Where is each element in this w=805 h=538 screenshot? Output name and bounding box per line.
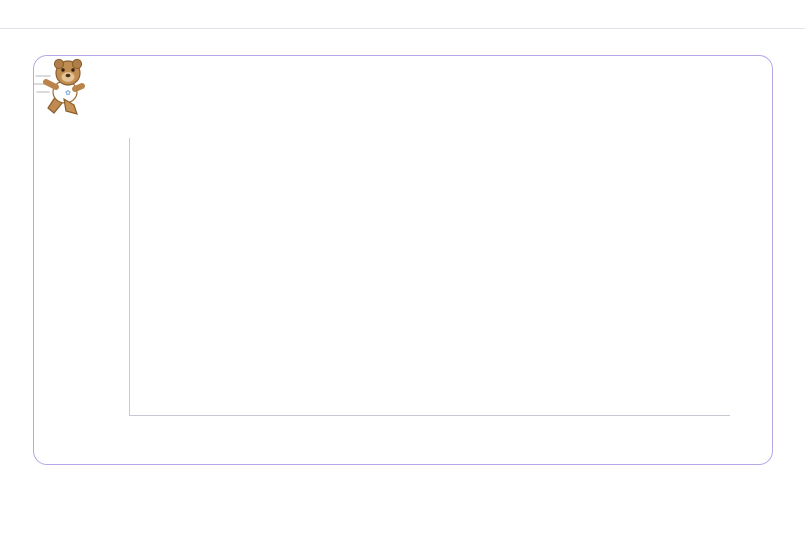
chart-card: ✿	[33, 55, 773, 465]
x-axis-line	[129, 415, 730, 416]
series-svg	[129, 138, 737, 415]
running-bear-mascot: ✿	[34, 56, 90, 120]
svg-text:✿: ✿	[65, 90, 71, 97]
title-divider	[0, 28, 805, 29]
